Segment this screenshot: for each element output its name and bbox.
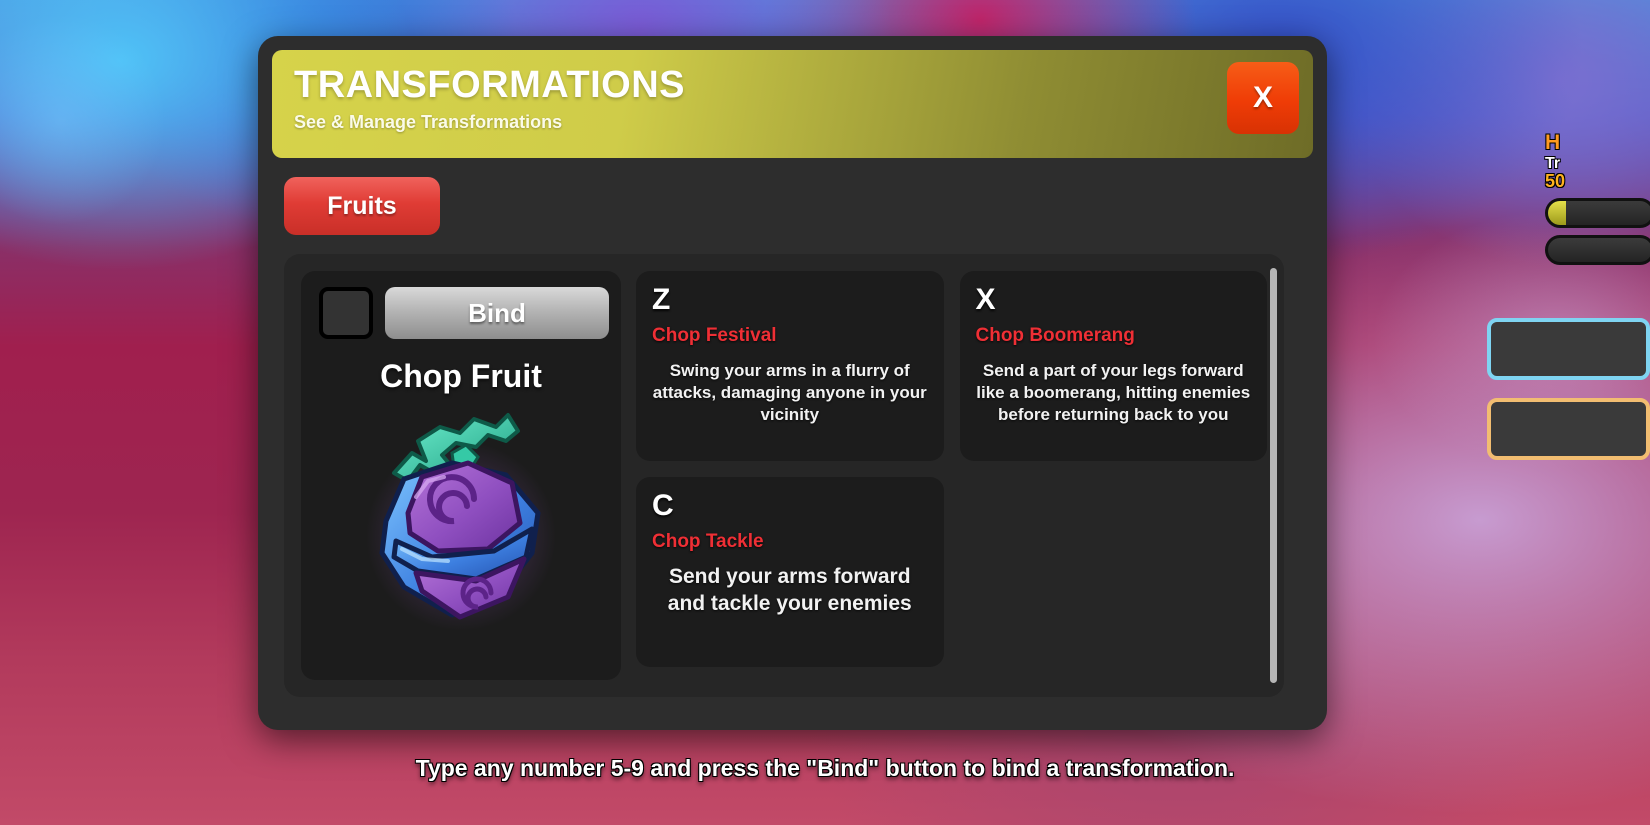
hud-slot-cyan[interactable]: [1487, 318, 1650, 380]
tab-fruits[interactable]: Fruits: [284, 177, 440, 235]
hud-slot-orange[interactable]: [1487, 398, 1650, 460]
ability-description: Swing your arms in a flurry of attacks, …: [652, 360, 928, 425]
hud-value: 50: [1545, 172, 1650, 191]
transformations-content: Bind Chop Fruit: [284, 254, 1284, 697]
ability-description: Send a part of your legs forward like a …: [976, 360, 1252, 425]
page-subtitle: See & Manage Transformations: [294, 112, 1293, 133]
ability-card-empty: [960, 477, 1268, 667]
ability-card-x[interactable]: X Chop Boomerang Send a part of your leg…: [960, 271, 1268, 461]
bind-button[interactable]: Bind: [385, 287, 609, 339]
ability-grid: Z Chop Festival Swing your arms in a flu…: [636, 271, 1267, 680]
tab-bar: Fruits: [272, 158, 1313, 235]
ability-key-label: C: [652, 491, 928, 521]
ability-key-label: X: [976, 285, 1252, 315]
ability-name-label: Chop Festival: [652, 325, 928, 347]
close-icon[interactable]: X: [1227, 62, 1299, 134]
ability-key-label: Z: [652, 285, 928, 315]
hud-progress-bar-1: [1545, 198, 1650, 228]
fruit-panel: Bind Chop Fruit: [301, 271, 621, 680]
ability-name-label: Chop Boomerang: [976, 325, 1252, 347]
ability-name-label: Chop Tackle: [652, 531, 928, 553]
hud-progress-bar-2: [1545, 235, 1650, 265]
transformations-modal: TRANSFORMATIONS See & Manage Transformat…: [258, 36, 1327, 730]
content-scrollbar[interactable]: [1270, 268, 1277, 683]
bind-instruction-text: Type any number 5-9 and press the "Bind"…: [0, 755, 1650, 782]
bind-row: Bind: [313, 287, 609, 339]
scrollbar-thumb[interactable]: [1270, 268, 1277, 683]
ability-card-c[interactable]: C Chop Tackle Send your arms forward and…: [636, 477, 944, 667]
modal-header: TRANSFORMATIONS See & Manage Transformat…: [272, 50, 1313, 158]
page-title: TRANSFORMATIONS: [294, 66, 1293, 106]
hud-subtitle: Tr: [1545, 155, 1650, 172]
ability-description: Send your arms forward and tackle your e…: [652, 564, 928, 618]
chop-fruit-icon: [356, 401, 566, 636]
hud-title: H: [1545, 132, 1650, 155]
bind-key-input[interactable]: [319, 287, 373, 339]
hud-panel: H Tr 50: [1545, 132, 1650, 265]
ability-card-z[interactable]: Z Chop Festival Swing your arms in a flu…: [636, 271, 944, 461]
fruit-name-label: Chop Fruit: [380, 358, 542, 395]
